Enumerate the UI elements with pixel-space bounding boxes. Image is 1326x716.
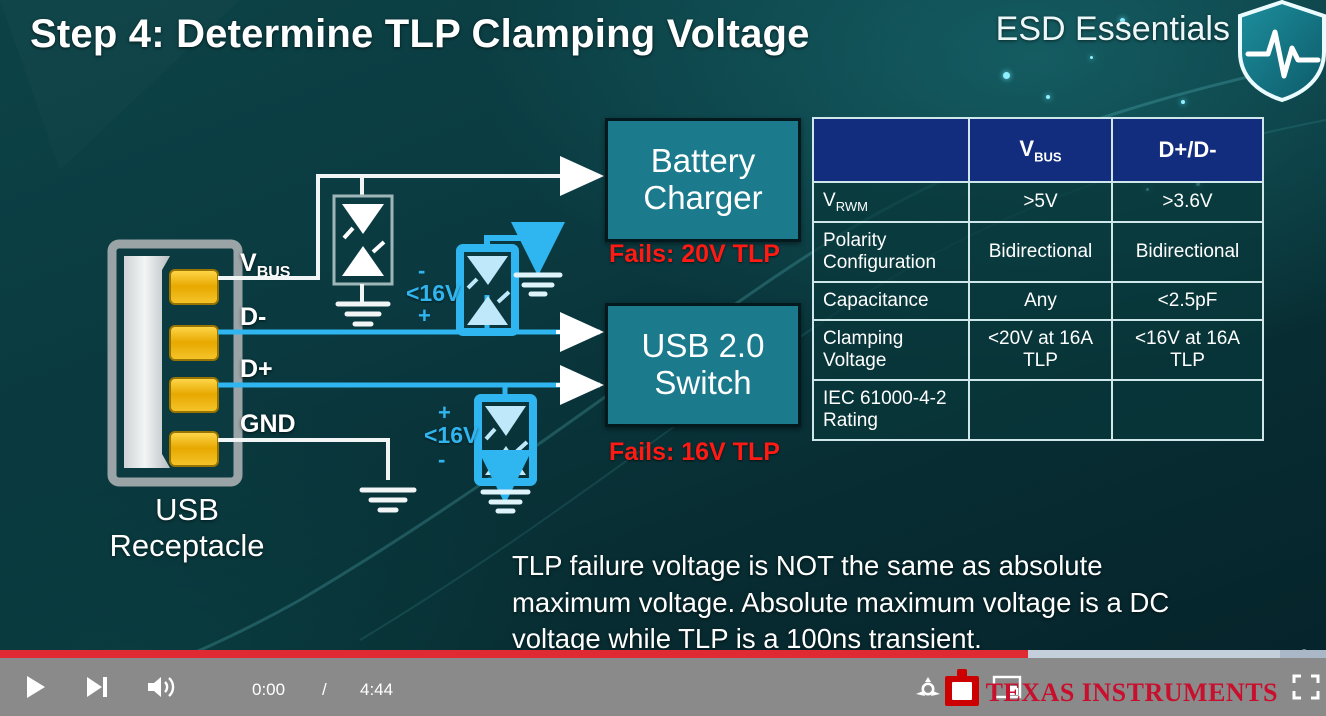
table-header-blank	[813, 118, 969, 182]
requirements-table: VBUS D+/D- VRWM >5V >3.6V Polarity Confi…	[812, 117, 1264, 441]
cell-iec-vbus	[969, 380, 1112, 440]
time-separator: /	[322, 680, 327, 700]
volume-icon[interactable]	[146, 674, 176, 700]
fail-note-usb-switch: Fails: 16V TLP	[609, 438, 780, 467]
cell-iec-dpdm	[1112, 380, 1263, 440]
video-player-controls[interactable]: 0:00 / 4:44 TEXAS INSTRUMENTS	[0, 658, 1326, 716]
fail-note-battery-charger: Fails: 20V TLP	[609, 240, 780, 269]
cell-polarity-dpdm: Bidirectional	[1112, 222, 1263, 282]
table-header-vbus: VBUS	[969, 118, 1112, 182]
time-current: 0:00	[252, 680, 285, 700]
table-row: Capacitance Any <2.5pF	[813, 282, 1263, 320]
cell-clamping-vbus: <20V at 16A TLP	[969, 320, 1112, 380]
play-icon[interactable]	[24, 674, 48, 700]
receptacle-caption-line1: USB	[57, 492, 317, 528]
progress-bar-played	[0, 650, 1028, 658]
ti-logo: TEXAS INSTRUMENTS	[945, 676, 1278, 706]
table-row: VRWM >5V >3.6V	[813, 182, 1263, 222]
cell-capacitance-vbus: Any	[969, 282, 1112, 320]
cell-vrwm-vbus: >5V	[969, 182, 1112, 222]
table-row: Polarity Configuration Bidirectional Bid…	[813, 222, 1263, 282]
row-label-iec-rating: IEC 61000-4-2 Rating	[813, 380, 969, 440]
fullscreen-icon[interactable]	[1292, 674, 1320, 700]
block-usb-switch-line2: Switch	[642, 365, 765, 402]
tvs-dplus-label: <16V	[424, 422, 478, 449]
block-battery-charger-line1: Battery	[643, 143, 762, 180]
tvs-dminus-label: <16V	[406, 280, 460, 307]
row-label-vrwm: VRWM	[813, 182, 969, 222]
table-row: IEC 61000-4-2 Rating	[813, 380, 1263, 440]
explanatory-note: TLP failure voltage is NOT the same as a…	[512, 548, 1202, 658]
next-track-icon[interactable]	[84, 674, 110, 700]
time-duration: 4:44	[360, 680, 393, 700]
receptacle-caption-line2: Receptacle	[57, 528, 317, 564]
slide-canvas: Step 4: Determine TLP Clamping Voltage E…	[0, 0, 1326, 716]
progress-bar-track[interactable]	[0, 650, 1326, 658]
ti-logo-mark	[945, 676, 979, 706]
row-label-clamping-voltage: Clamping Voltage	[813, 320, 969, 380]
receptacle-caption: USB Receptacle	[57, 492, 317, 563]
table-header-dpdm: D+/D-	[1112, 118, 1263, 182]
block-battery-charger-line2: Charger	[643, 180, 762, 217]
row-label-polarity: Polarity Configuration	[813, 222, 969, 282]
block-battery-charger: Battery Charger	[605, 118, 801, 242]
table-row: Clamping Voltage <20V at 16A TLP <16V at…	[813, 320, 1263, 380]
cell-vrwm-dpdm: >3.6V	[1112, 182, 1263, 222]
block-usb-switch-line1: USB 2.0	[642, 328, 765, 365]
tvs-dplus-minus-sign: -	[438, 447, 445, 473]
cell-polarity-vbus: Bidirectional	[969, 222, 1112, 282]
cell-capacitance-dpdm: <2.5pF	[1112, 282, 1263, 320]
gear-icon[interactable]	[914, 674, 942, 702]
row-label-capacitance: Capacitance	[813, 282, 969, 320]
ti-logo-text: TEXAS INSTRUMENTS	[986, 680, 1278, 706]
table-header-row: VBUS D+/D-	[813, 118, 1263, 182]
block-usb-switch: USB 2.0 Switch	[605, 303, 801, 427]
cell-clamping-dpdm: <16V at 16A TLP	[1112, 320, 1263, 380]
tvs-dminus-plus-sign: +	[418, 303, 431, 329]
